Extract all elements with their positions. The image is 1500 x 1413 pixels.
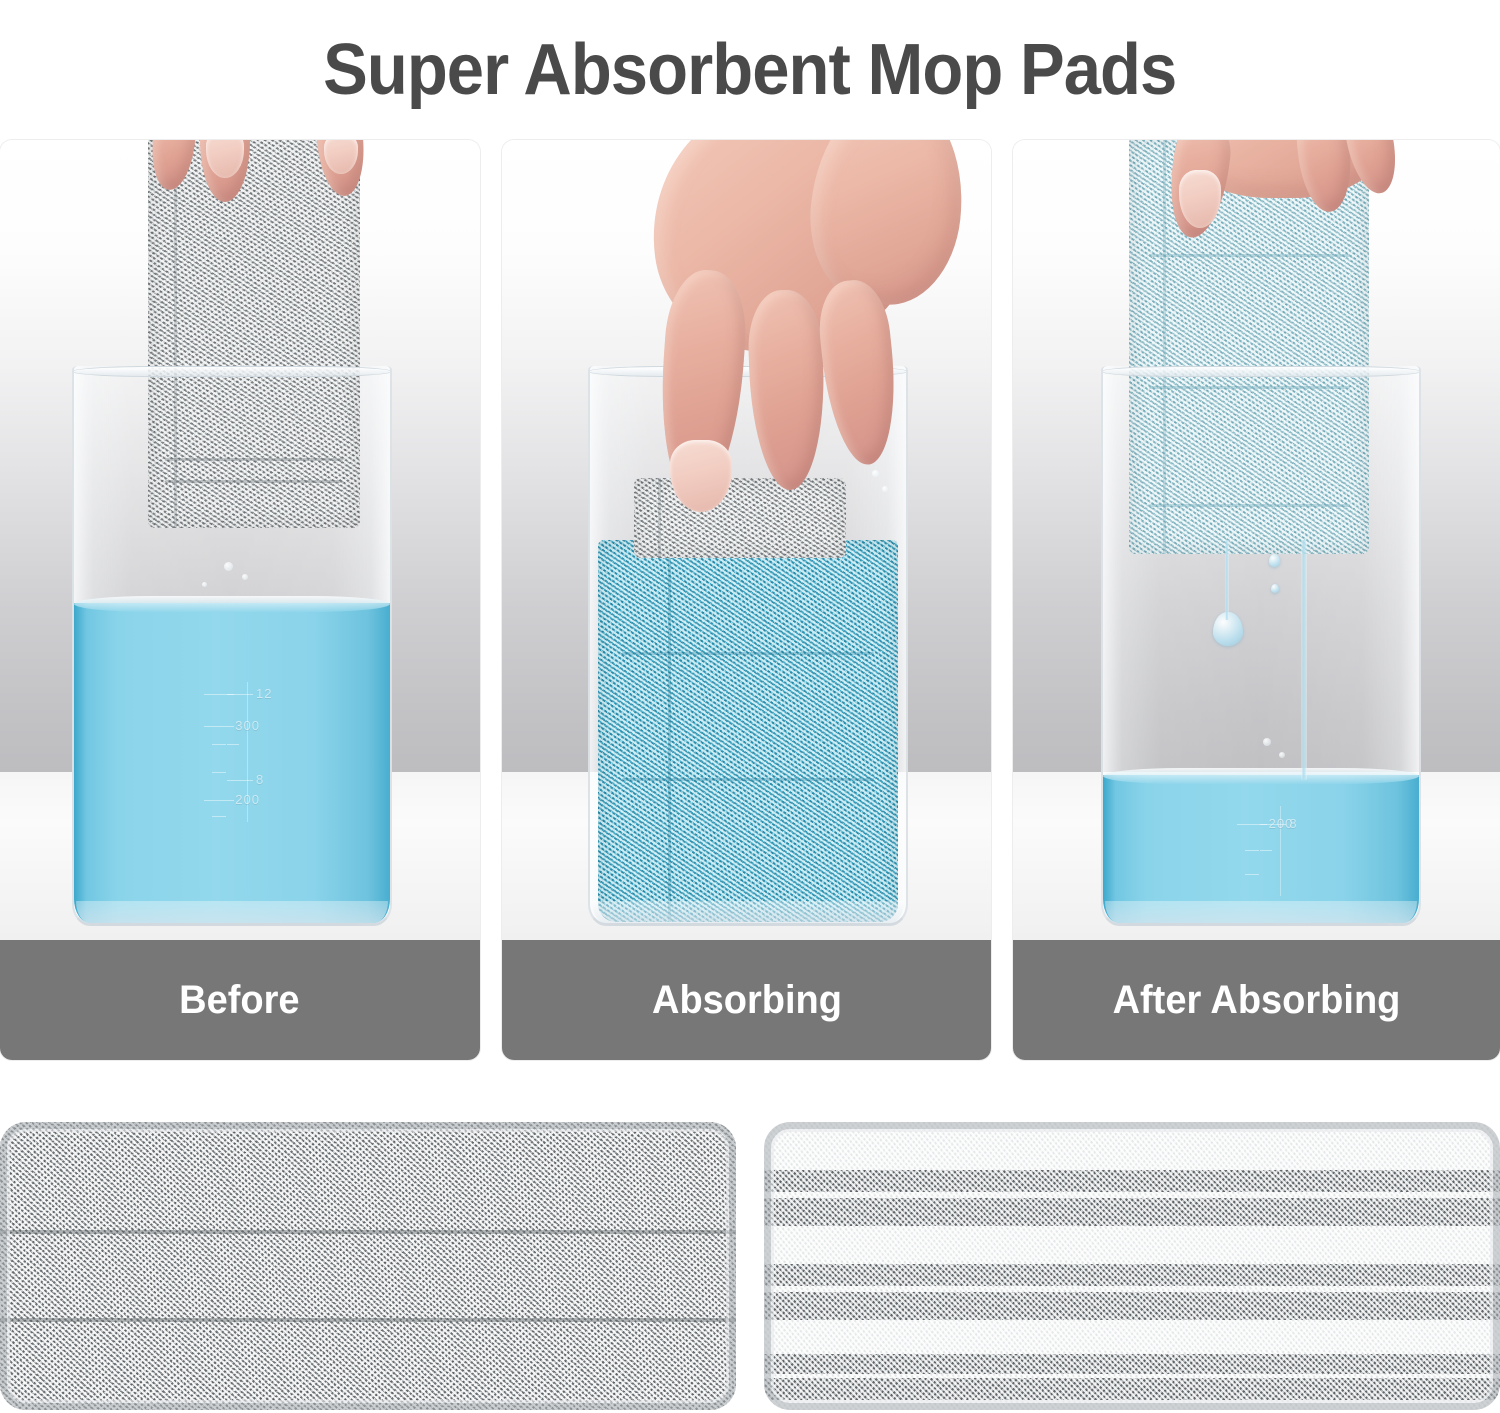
product-white-striped-mop-pad [764,1122,1500,1410]
pad-stripe [764,1198,1500,1226]
caption-bar-after-absorbing: After Absorbing [1013,940,1500,1060]
product-images-row [0,1122,1500,1413]
beaker-base [592,901,904,923]
pad-stripe [764,1264,1500,1286]
pad-stitch-line [0,1318,736,1322]
caption-label-absorbing: Absorbing [651,978,841,1023]
caption-label-before: Before [180,978,300,1023]
beaker-scale-after: 200 8 [1215,806,1345,896]
page-header: Super Absorbent Mop Pads [0,0,1500,140]
caption-bar-before: Before [0,940,480,1060]
pad-stripe [764,1292,1500,1320]
demo-panel-after-absorbing: 200 8 [1013,140,1500,1060]
demo-photo-before: 12 300 8 200 [0,140,480,940]
pad-surface-speckled [0,1122,736,1410]
caption-label-after-absorbing: After Absorbing [1113,978,1401,1023]
demo-panel-before: 12 300 8 200 [0,140,480,1060]
product-grey-speckled-mop-pad [0,1122,736,1410]
mop-pad-dry [148,140,360,528]
beaker-scale-before: 12 300 8 200 [182,682,312,822]
beaker-rim [1101,366,1421,377]
beaker-base [76,901,388,923]
mop-pad-saturated [598,540,898,922]
water-thread [1225,540,1229,620]
demo-photo-after-absorbing: 200 8 [1013,140,1500,940]
caption-bar-absorbing: Absorbing [502,940,992,1060]
page-title: Super Absorbent Mop Pads [323,29,1176,111]
liquid-surface [1103,768,1419,784]
demo-photo-absorbing [502,140,992,940]
beaker-rim [72,366,392,377]
beaker-base [1105,901,1417,923]
water-stream [1301,540,1307,780]
water-drop-small [1269,554,1280,567]
pad-stripe [764,1170,1500,1192]
demo-panel-absorbing: Absorbing [502,140,992,1060]
mop-pad-above-waterline [634,478,846,558]
liquid-surface [74,596,390,612]
demo-panel-row: 12 300 8 200 [0,140,1500,1065]
pad-stripe [764,1354,1500,1374]
pad-stripe [764,1378,1500,1400]
pad-stitch-line [0,1230,736,1234]
